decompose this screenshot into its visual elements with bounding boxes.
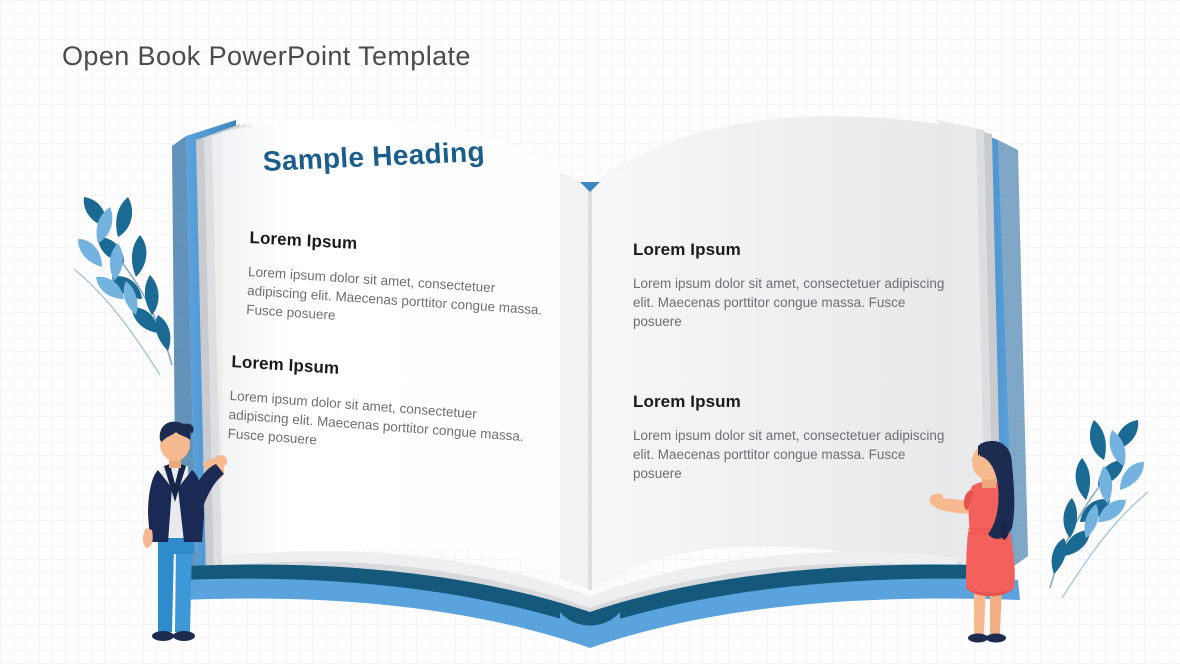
man-waving-illustration <box>128 418 258 650</box>
right-block-1-body: Lorem ipsum dolor sit amet, consectetuer… <box>633 274 945 331</box>
slide-canvas: Open Book PowerPoint Template <box>0 0 1180 664</box>
right-page-block-1: Lorem Ipsum Lorem ipsum dolor sit amet, … <box>633 240 945 331</box>
right-block-2-body: Lorem ipsum dolor sit amet, consectetuer… <box>633 426 945 483</box>
right-block-1-heading: Lorem Ipsum <box>633 240 945 260</box>
woman-reaching-illustration <box>918 428 1058 650</box>
right-page-block-2: Lorem Ipsum Lorem ipsum dolor sit amet, … <box>633 392 945 483</box>
right-block-2-heading: Lorem Ipsum <box>633 392 945 412</box>
